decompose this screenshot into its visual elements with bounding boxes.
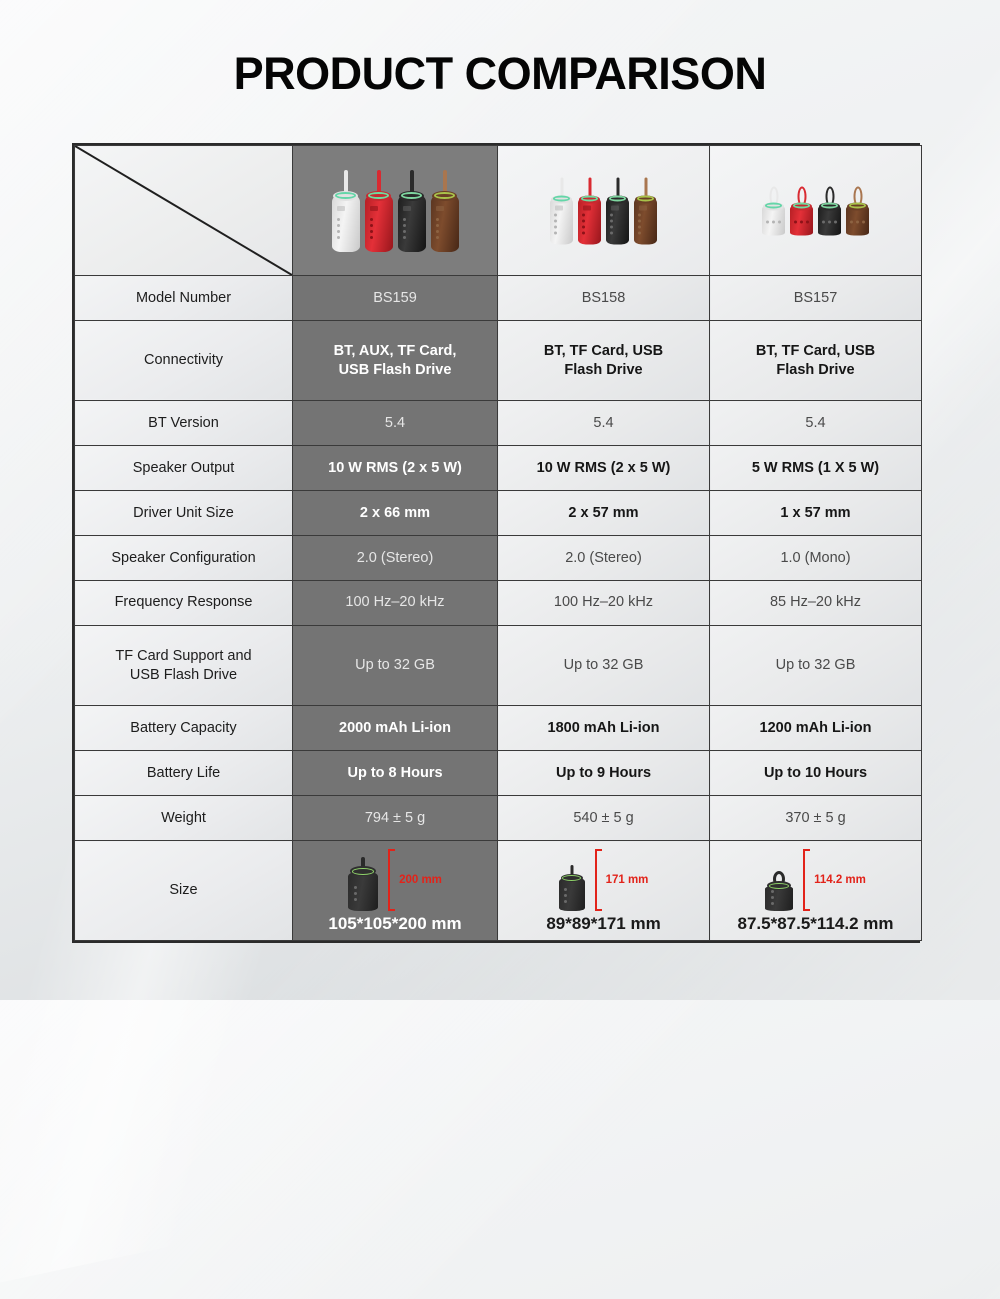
product-photo-group	[293, 170, 497, 252]
dimension-label: 114.2 mm	[814, 873, 866, 888]
cell-bs157: 1 x 57 mm	[710, 491, 922, 536]
speaker-led-ring	[401, 192, 422, 199]
speaker-button-row	[564, 888, 567, 903]
page-title: PRODUCT COMPARISON	[0, 48, 1000, 100]
speaker-button-row	[403, 218, 406, 239]
cell-bs159: Up to 32 GB	[293, 625, 498, 705]
cell-bs159: 10 W RMS (2 x 5 W)	[293, 446, 498, 491]
dimension-label: 200 mm	[399, 873, 442, 888]
speaker-button-row	[554, 213, 557, 234]
row-label: Speaker Configuration	[75, 536, 293, 581]
size-cell-bs158: 171 mm89*89*171 mm	[498, 841, 710, 941]
speaker-led-ring	[368, 192, 389, 199]
row-label: Frequency Response	[75, 580, 293, 625]
row-label: Model Number	[75, 276, 293, 321]
cell-bs157: 85 Hz–20 kHz	[710, 580, 922, 625]
speaker-logo	[337, 206, 345, 211]
diagonal-divider-icon	[75, 146, 292, 275]
cell-bs158: BT, TF Card, USB Flash Drive	[498, 320, 710, 400]
speaker-button-row	[610, 213, 613, 234]
cell-bs159: 2 x 66 mm	[293, 491, 498, 536]
cell-bs157: BT, TF Card, USB Flash Drive	[710, 320, 922, 400]
table-row: TF Card Support and USB Flash DriveUp to…	[75, 625, 922, 705]
cell-bs158: 100 Hz–20 kHz	[498, 580, 710, 625]
row-label: Battery Capacity	[75, 706, 293, 751]
dimension-callout: 200 mm	[388, 849, 442, 911]
cell-bs159: BT, AUX, TF Card, USB Flash Drive	[293, 320, 498, 400]
size-figure: 200 mm	[299, 849, 491, 911]
speaker-logo	[436, 206, 444, 211]
product-photo-speaker	[818, 186, 841, 235]
speaker-logo	[403, 206, 411, 211]
table-row: Speaker Output10 W RMS (2 x 5 W)10 W RMS…	[75, 446, 922, 491]
cell-bs158: 10 W RMS (2 x 5 W)	[498, 446, 710, 491]
row-label: TF Card Support and USB Flash Drive	[75, 625, 293, 705]
table-row: BT Version5.45.45.4	[75, 401, 922, 446]
cell-bs158: BS158	[498, 276, 710, 321]
speaker-button-row	[794, 220, 809, 223]
cell-bs157: 370 ± 5 g	[710, 796, 922, 841]
speaker-button-row	[354, 886, 357, 901]
cell-bs158: 2.0 (Stereo)	[498, 536, 710, 581]
speaker-body	[765, 886, 793, 911]
row-label: Driver Unit Size	[75, 491, 293, 536]
table-row: Battery LifeUp to 8 HoursUp to 9 HoursUp…	[75, 751, 922, 796]
speaker-led-ring	[793, 202, 811, 208]
row-label: Size	[75, 841, 293, 941]
size-caption: 87.5*87.5*114.2 mm	[716, 913, 915, 935]
product-photo-cell-bs159	[293, 146, 498, 276]
size-figure: 114.2 mm	[716, 849, 915, 911]
product-photo-cell-bs157	[710, 146, 922, 276]
dimension-callout: 171 mm	[595, 849, 649, 911]
product-photo-speaker	[606, 177, 629, 244]
cell-bs158: 5.4	[498, 401, 710, 446]
row-label: BT Version	[75, 401, 293, 446]
product-photo-speaker	[431, 170, 459, 252]
cell-bs157: 5.4	[710, 401, 922, 446]
table-row: ConnectivityBT, AUX, TF Card, USB Flash …	[75, 320, 922, 400]
product-photo-speaker	[578, 177, 601, 244]
comparison-table-container: Model NumberBS159BS158BS157ConnectivityB…	[72, 143, 920, 943]
table-header-row	[75, 146, 922, 276]
row-label: Speaker Output	[75, 446, 293, 491]
size-speaker-silhouette	[765, 871, 793, 911]
size-speaker-silhouette	[559, 865, 585, 911]
cell-bs158: 540 ± 5 g	[498, 796, 710, 841]
product-photo-group	[710, 186, 921, 235]
table-row: Driver Unit Size2 x 66 mm2 x 57 mm1 x 57…	[75, 491, 922, 536]
size-caption: 105*105*200 mm	[299, 913, 491, 935]
speaker-button-row	[822, 220, 837, 223]
table-row: Model NumberBS159BS158BS157	[75, 276, 922, 321]
cell-bs158: Up to 9 Hours	[498, 751, 710, 796]
table-row-size: Size200 mm105*105*200 mm171 mm89*89*171 …	[75, 841, 922, 941]
cell-bs157: 5 W RMS (1 X 5 W)	[710, 446, 922, 491]
cell-bs157: Up to 10 Hours	[710, 751, 922, 796]
cell-bs159: 100 Hz–20 kHz	[293, 580, 498, 625]
speaker-button-row	[850, 220, 865, 223]
speaker-led-ring	[765, 202, 783, 208]
size-caption: 89*89*171 mm	[504, 913, 703, 935]
table-row: Frequency Response100 Hz–20 kHz100 Hz–20…	[75, 580, 922, 625]
cell-bs159: 2000 mAh Li-ion	[293, 706, 498, 751]
dimension-label: 171 mm	[606, 873, 649, 888]
speaker-button-row	[337, 218, 340, 239]
speaker-logo	[370, 206, 378, 211]
speaker-logo	[639, 205, 647, 210]
product-photo-speaker	[398, 170, 426, 252]
row-label: Weight	[75, 796, 293, 841]
speaker-logo	[583, 205, 591, 210]
cell-bs159: BS159	[293, 276, 498, 321]
table-row: Battery Capacity2000 mAh Li-ion1800 mAh …	[75, 706, 922, 751]
table-row: Weight794 ± 5 g540 ± 5 g370 ± 5 g	[75, 796, 922, 841]
speaker-button-row	[771, 890, 774, 905]
cell-bs159: 5.4	[293, 401, 498, 446]
product-photo-speaker	[846, 186, 869, 235]
speaker-button-row	[582, 213, 585, 234]
speaker-button-row	[766, 220, 781, 223]
cell-bs158: 1800 mAh Li-ion	[498, 706, 710, 751]
cell-bs158: 2 x 57 mm	[498, 491, 710, 536]
table-corner-diagonal-cell	[75, 146, 293, 276]
speaker-button-row	[436, 218, 439, 239]
size-cell-bs159: 200 mm105*105*200 mm	[293, 841, 498, 941]
table-row: Speaker Configuration2.0 (Stereo)2.0 (St…	[75, 536, 922, 581]
speaker-led-ring	[553, 195, 571, 201]
cell-bs159: 2.0 (Stereo)	[293, 536, 498, 581]
cell-bs158: Up to 32 GB	[498, 625, 710, 705]
size-cell-bs157: 114.2 mm87.5*87.5*114.2 mm	[710, 841, 922, 941]
cell-bs157: Up to 32 GB	[710, 625, 922, 705]
product-photo-speaker	[550, 177, 573, 244]
size-speaker-silhouette	[348, 857, 378, 911]
product-photo-group	[498, 177, 709, 244]
speaker-led-ring	[335, 192, 356, 199]
speaker-logo	[611, 205, 619, 210]
speaker-led-ring	[849, 202, 867, 208]
product-photo-speaker	[790, 186, 813, 235]
cell-bs157: 1200 mAh Li-ion	[710, 706, 922, 751]
product-photo-speaker	[762, 186, 785, 235]
product-photo-speaker	[634, 177, 657, 244]
speaker-led-ring	[581, 195, 599, 201]
cell-bs159: Up to 8 Hours	[293, 751, 498, 796]
speaker-button-row	[370, 218, 373, 239]
product-photo-speaker	[332, 170, 360, 252]
cell-bs157: BS157	[710, 276, 922, 321]
dimension-callout: 114.2 mm	[803, 849, 866, 911]
speaker-body	[348, 872, 378, 911]
dimension-bracket-icon	[388, 849, 395, 911]
size-figure: 171 mm	[504, 849, 703, 911]
product-photo-cell-bs158	[498, 146, 710, 276]
product-photo-speaker	[365, 170, 393, 252]
row-label: Connectivity	[75, 320, 293, 400]
speaker-button-row	[638, 213, 641, 234]
speaker-led-ring	[637, 195, 655, 201]
speaker-body	[559, 878, 585, 911]
cell-bs159: 794 ± 5 g	[293, 796, 498, 841]
comparison-table: Model NumberBS159BS158BS157ConnectivityB…	[74, 145, 922, 941]
speaker-led-ring	[434, 192, 455, 199]
speaker-led-ring	[821, 202, 839, 208]
dimension-bracket-icon	[595, 849, 602, 911]
speaker-logo	[555, 205, 563, 210]
dimension-bracket-icon	[803, 849, 810, 911]
speaker-led-ring	[609, 195, 627, 201]
row-label: Battery Life	[75, 751, 293, 796]
cell-bs157: 1.0 (Mono)	[710, 536, 922, 581]
